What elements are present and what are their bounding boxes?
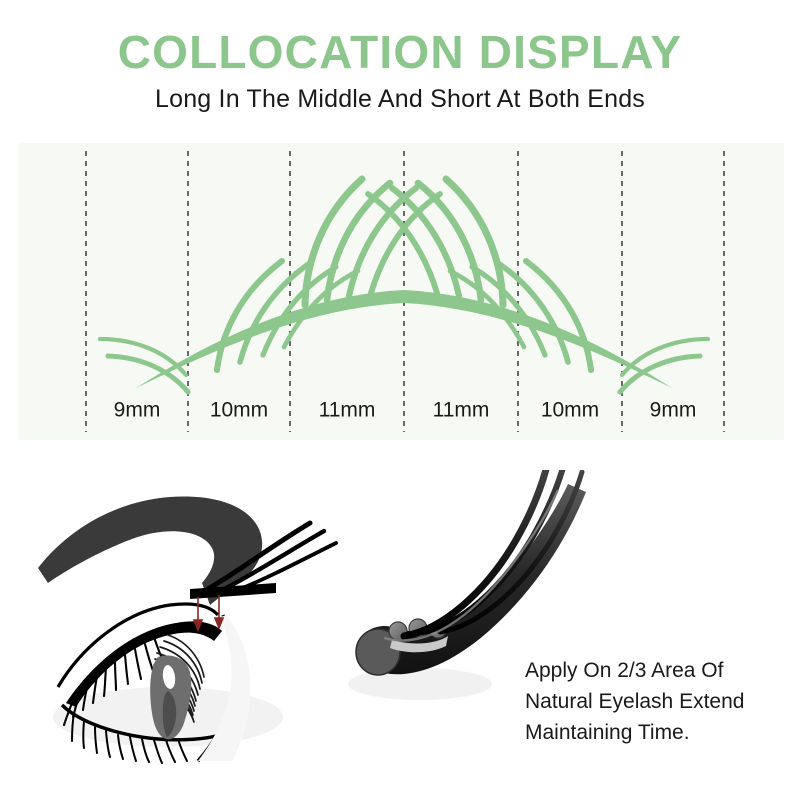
zone-label-3: 11mm	[433, 399, 490, 422]
lash-length-chart-panel: 9mm 10mm 11mm 11mm 10mm 9mm	[18, 143, 784, 440]
page-subtitle: Long In The Middle And Short At Both End…	[0, 78, 800, 114]
apply-note-line-1: Apply On 2/3 Area Of	[525, 655, 795, 686]
header: COLLOCATION DISPLAY Long In The Middle A…	[0, 0, 800, 114]
lash-cluster-11mm-right	[368, 179, 503, 305]
lash-length-diagram: 9mm 10mm 11mm 11mm 10mm 9mm	[18, 143, 784, 440]
infographic-page: COLLOCATION DISPLAY Long In The Middle A…	[0, 0, 800, 800]
zone-label-0: 9mm	[114, 399, 161, 422]
apply-instruction-text: Apply On 2/3 Area Of Natural Eyelash Ext…	[525, 655, 795, 748]
bottom-section: Apply On 2/3 Area Of Natural Eyelash Ext…	[0, 455, 800, 800]
zone-label-4: 10mm	[541, 399, 599, 422]
eye-application-illustration	[18, 465, 348, 765]
arrow-head-right	[215, 618, 223, 628]
eye-diagram-svg	[18, 465, 348, 765]
apply-note-line-2: Natural Eyelash Extend	[525, 686, 795, 717]
zone-label-5: 9mm	[650, 399, 697, 422]
zone-label-1: 10mm	[210, 399, 268, 422]
page-title: COLLOCATION DISPLAY	[0, 0, 800, 78]
zone-label-2: 11mm	[319, 399, 376, 422]
apply-note-line-3: Maintaining Time.	[525, 717, 795, 748]
